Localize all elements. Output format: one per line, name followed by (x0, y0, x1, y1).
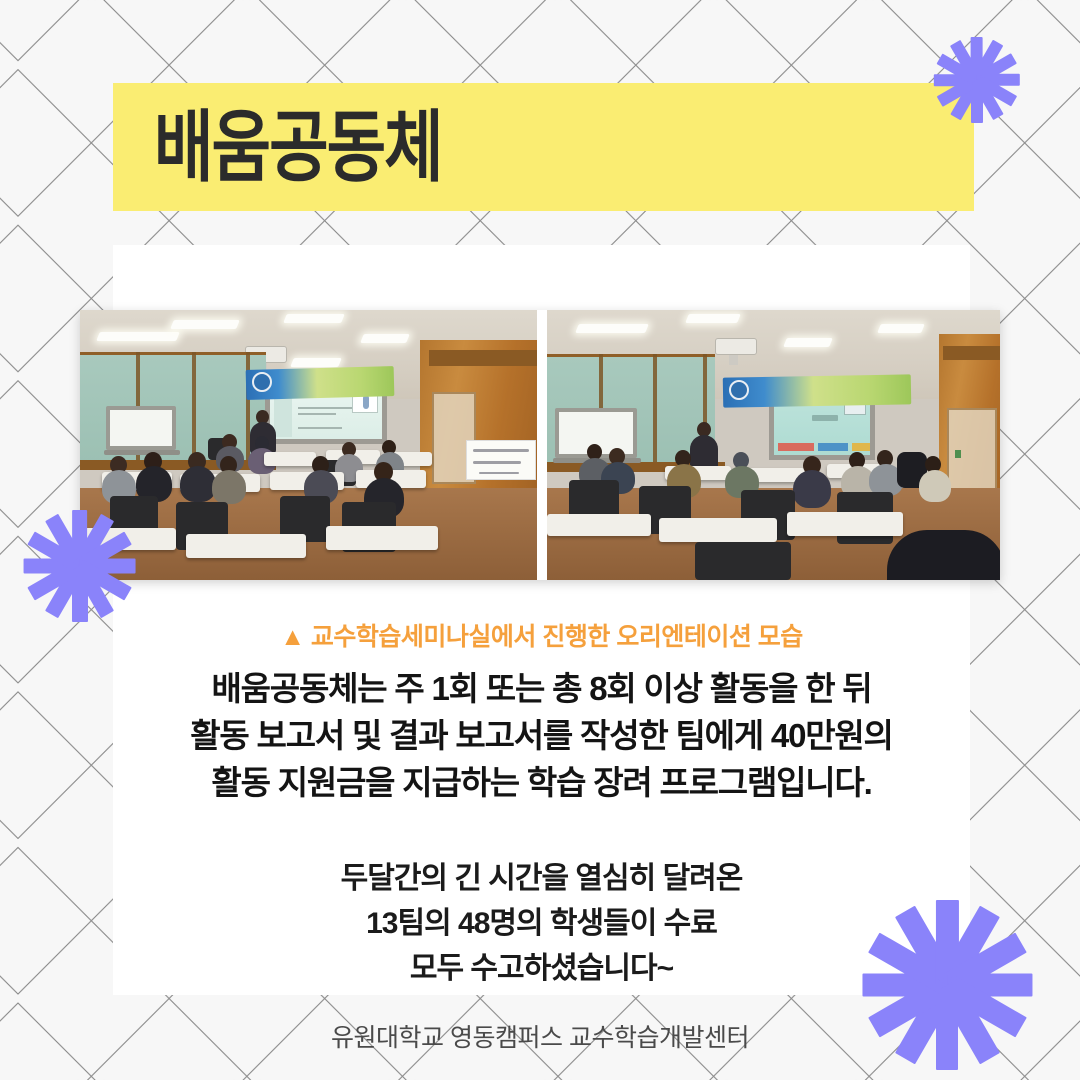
wall-mullion (192, 352, 196, 464)
whiteboard-tray (104, 450, 180, 455)
page-title: 배움공동체 (154, 108, 442, 186)
wood-beam (943, 346, 1000, 360)
paragraph-sub-line: 13팀의 48명의 학생들이 수료 (113, 901, 970, 946)
wood-beam (429, 350, 537, 366)
ceiling-light-icon (170, 320, 240, 329)
poster-canvas: 배움공동체 (0, 0, 1080, 1080)
chair (695, 542, 791, 580)
notice-sign (466, 440, 536, 480)
whiteboard (106, 406, 176, 450)
paragraph-sub-line: 두달간의 긴 시간을 열심히 달려온 (113, 856, 970, 901)
paragraph-main: 배움공동체는 주 1회 또는 총 8회 이상 활동을 한 뒤 활동 보고서 및 … (113, 665, 970, 806)
student-body-foreground (887, 530, 1000, 580)
student-body (180, 466, 216, 502)
desk (547, 514, 651, 536)
ceiling-light-icon (685, 314, 741, 323)
starburst-left-icon (24, 510, 136, 622)
classroom-scene-left (80, 310, 537, 580)
projector-mount (729, 355, 738, 365)
paragraph-main-line: 활동 보고서 및 결과 보고서를 작성한 팀에게 40만원의 (113, 712, 970, 759)
classroom-scene-right (547, 310, 1000, 580)
notice-text-line (479, 472, 519, 474)
ceiling-light-icon (290, 358, 342, 367)
desk (186, 534, 306, 558)
wall-mullion (653, 354, 657, 466)
projector-icon (715, 338, 757, 355)
desk (264, 452, 316, 466)
desk (787, 512, 903, 536)
paragraph-main-line: 배움공동체는 주 1회 또는 총 8회 이상 활동을 한 뒤 (113, 665, 970, 712)
body-copy: 배움공동체는 주 1회 또는 총 8회 이상 활동을 한 뒤 활동 보고서 및 … (113, 665, 970, 991)
paragraph-sub: 두달간의 긴 시간을 열심히 달려온 13팀의 48명의 학생들이 수료 모두 … (113, 856, 970, 991)
ceiling-light-icon (877, 324, 925, 333)
student-body (793, 470, 831, 508)
notice-text-line (473, 461, 521, 464)
notice-text-line (473, 449, 529, 452)
ceiling-light-icon (575, 324, 649, 333)
desk (659, 518, 777, 542)
paragraph-main-line: 활동 지원금을 지급하는 학습 장려 프로그램입니다. (113, 759, 970, 806)
orientation-photo-left (80, 310, 537, 580)
student-body (212, 470, 246, 504)
photo-caption: ▲ 교수학습세미나실에서 진행한 오리엔테이션 모습 (113, 617, 970, 653)
university-emblem-icon (729, 380, 749, 400)
orientation-photo-right (547, 310, 1000, 580)
student-body (919, 470, 951, 502)
ceiling-light-icon (283, 314, 345, 323)
ceiling-light-icon (360, 334, 410, 343)
exit-marker-icon (955, 450, 961, 458)
title-banner: 배움공동체 (113, 83, 974, 211)
event-banner (723, 374, 911, 407)
starburst-top-right-icon (934, 37, 1020, 123)
desk (326, 526, 438, 550)
starburst-bottom-right-icon (862, 900, 1032, 1070)
photo-strip (80, 310, 1000, 580)
university-emblem-icon (252, 372, 272, 392)
ceiling-light-icon (96, 332, 180, 341)
paragraph-sub-line: 모두 수고하셨습니다~ (113, 946, 970, 991)
ceiling-light-icon (783, 338, 833, 347)
